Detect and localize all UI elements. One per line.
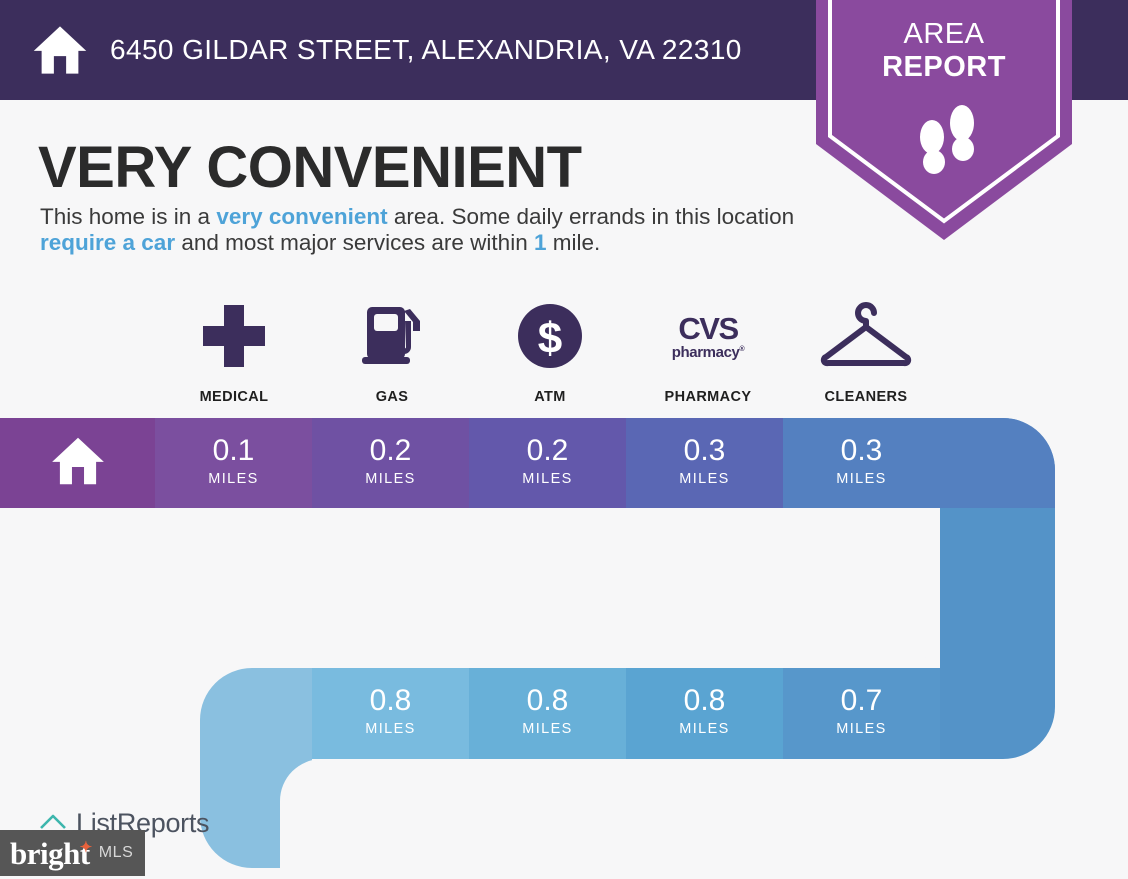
svg-text:$: $ (538, 314, 562, 363)
distance-segment-atm: 0.2 MILES (469, 418, 626, 508)
bright-wordmark: bright (10, 836, 90, 871)
cvs-pharmacy-logo: CVS pharmacy® (672, 296, 744, 376)
distance-segment-coffee: 0.8 MILES (469, 668, 626, 759)
category-label: CLEANERS (825, 389, 908, 405)
category-label: ATM (534, 389, 566, 405)
distance-segment-pharmacy: 0.3 MILES (626, 418, 783, 508)
atm-dollar-icon: $ (513, 296, 587, 376)
category-row-upper: MEDICAL GAS $ ATM (155, 296, 945, 405)
category-label: GAS (376, 389, 409, 405)
distance-value: 0.3 (783, 436, 940, 466)
clothes-hanger-icon (818, 296, 914, 376)
house-icon (0, 22, 88, 78)
summary-part-4: mile. (546, 230, 600, 255)
summary-part-3: and most major services are within (175, 230, 534, 255)
distance-unit: MILES (783, 721, 940, 737)
summary-highlight-3: 1 (534, 230, 547, 255)
path-connector-right-upper (940, 418, 1055, 508)
property-address: 6450 GILDAR STREET, ALEXANDRIA, VA 22310 (110, 34, 742, 66)
distance-value: 0.8 (626, 686, 783, 716)
distance-value: 0.7 (783, 686, 940, 716)
path-notch-upper (0, 508, 940, 668)
distance-path: 0.1 MILES 0.2 MILES 0.2 MILES 0.3 MILES … (0, 418, 1128, 778)
path-notch-lower (280, 759, 1128, 879)
distance-value: 0.3 (626, 436, 783, 466)
distance-unit: MILES (783, 471, 940, 487)
mls-suffix: MLS (99, 844, 134, 862)
banner-line-2: REPORT (806, 51, 1082, 84)
distance-unit: MILES (626, 471, 783, 487)
distance-segment-gas: 0.2 MILES (312, 418, 469, 508)
category-medical: MEDICAL (155, 296, 313, 405)
summary-paragraph: This home is in a very convenient area. … (40, 204, 815, 256)
distance-segment-cleaners: 0.3 MILES (783, 418, 940, 508)
page-title: VERY CONVENIENT (38, 134, 582, 201)
bright-mls-watermark: bright ✦ MLS (0, 830, 145, 876)
summary-part-1: This home is in a (40, 204, 216, 229)
category-cleaners: CLEANERS (787, 296, 945, 405)
summary-part-2: area. Some daily errands in this locatio… (388, 204, 794, 229)
home-marker-segment (0, 418, 155, 508)
distance-value: 0.8 (312, 686, 469, 716)
summary-highlight-2: require a car (40, 230, 175, 255)
distance-value: 0.1 (155, 436, 312, 466)
area-report-banner: AREA REPORT (806, 0, 1082, 240)
distance-value: 0.8 (469, 686, 626, 716)
distance-unit: MILES (312, 721, 469, 737)
summary-highlight-1: very convenient (216, 204, 387, 229)
category-label: MEDICAL (200, 389, 269, 405)
distance-unit: MILES (469, 471, 626, 487)
medical-cross-icon (197, 296, 271, 376)
distance-value: 0.2 (469, 436, 626, 466)
category-atm: $ ATM (471, 296, 629, 405)
category-label: PHARMACY (665, 389, 752, 405)
gas-pump-icon (355, 296, 429, 376)
distance-segment-groceries: 0.8 MILES (626, 668, 783, 759)
distance-unit: MILES (469, 721, 626, 737)
category-gas: GAS (313, 296, 471, 405)
cvs-subword: pharmacy (672, 344, 740, 361)
distance-segment-medical: 0.1 MILES (155, 418, 312, 508)
distance-segment-gym: 0.7 MILES (783, 668, 940, 759)
star-icon: ✦ (80, 841, 92, 856)
category-pharmacy: CVS pharmacy® PHARMACY (629, 296, 787, 405)
banner-line-1: AREA (806, 18, 1082, 51)
banner-title: AREA REPORT (806, 18, 1082, 85)
distance-segment-movie-theater: 0.8 MILES (312, 668, 469, 759)
cvs-wordmark: CVS (672, 313, 744, 344)
house-icon (50, 436, 106, 491)
distance-unit: MILES (626, 721, 783, 737)
distance-value: 0.2 (312, 436, 469, 466)
distance-unit: MILES (312, 471, 469, 487)
distance-unit: MILES (155, 471, 312, 487)
